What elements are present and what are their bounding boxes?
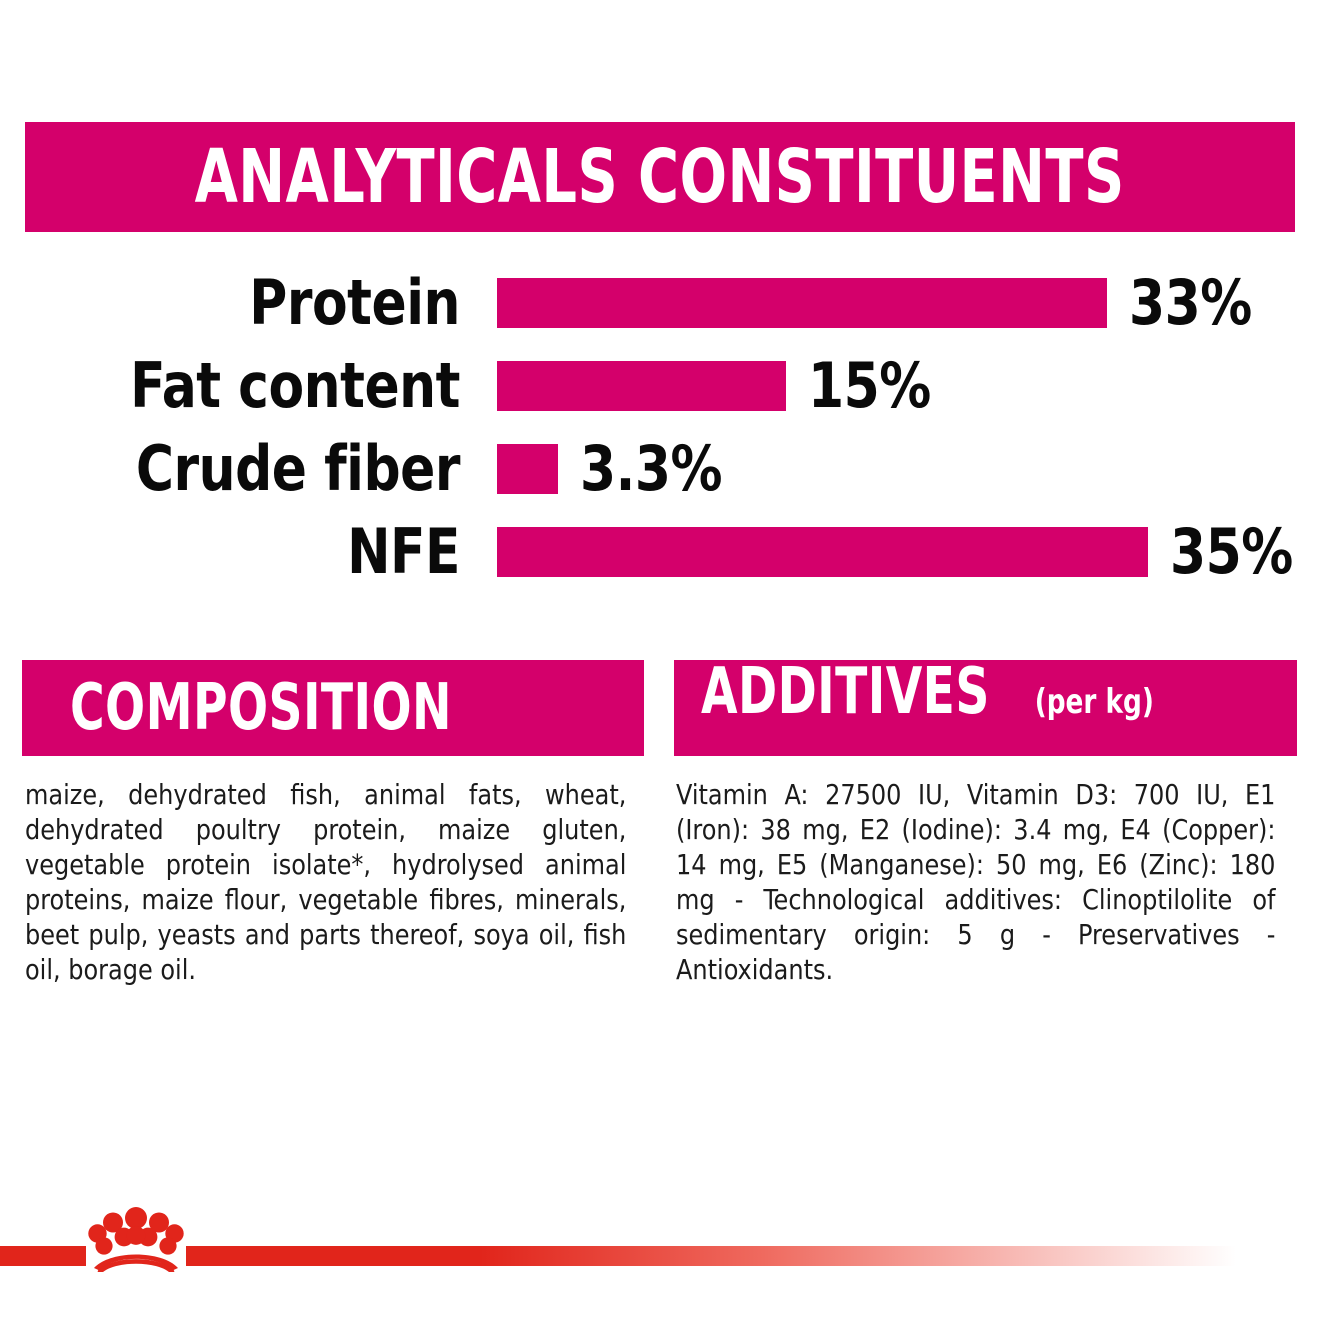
chart-row: Protein 33% (0, 262, 1320, 344)
chart-bar (497, 278, 1107, 328)
chart-bar (497, 444, 558, 494)
chart-bar-group: 15% (497, 355, 940, 417)
chart-bar-group: 3.3% (497, 438, 733, 500)
footer-rule-right (186, 1246, 1236, 1266)
analyticals-constituents-title: ANALYTICALS CONSTITUENTS (195, 140, 1125, 214)
footer-rule-left (0, 1246, 86, 1266)
additives-title: ADDITIVES (701, 660, 990, 724)
chart-row-value: 15% (808, 355, 931, 417)
chart-bar-group: 33% (497, 272, 1261, 334)
chart-row: Crude fiber 3.3% (0, 428, 1320, 510)
composition-title: COMPOSITION (70, 676, 452, 740)
composition-text: maize, dehydrated fish, animal fats, whe… (25, 778, 626, 988)
composition-banner: COMPOSITION (22, 660, 644, 756)
chart-row-value: 33% (1129, 272, 1252, 334)
additives-text: Vitamin A: 27500 IU, Vitamin D3: 700 IU,… (676, 778, 1275, 988)
chart-row: NFE 35% (0, 511, 1320, 593)
chart-row-label: NFE (32, 521, 460, 583)
chart-row-label: Crude fiber (32, 438, 460, 500)
royal-canin-crown-logo (86, 1206, 186, 1272)
constituents-bar-chart: Protein 33% Fat content 15% Crude fiber … (0, 262, 1320, 602)
chart-row-label: Fat content (32, 355, 460, 417)
chart-row-value: 35% (1170, 521, 1293, 583)
analyticals-constituents-banner: ANALYTICALS CONSTITUENTS (25, 122, 1295, 232)
additives-banner-inner: ADDITIVES (per kg) (701, 660, 1297, 724)
chart-bar (497, 361, 786, 411)
additives-banner: ADDITIVES (per kg) (674, 660, 1297, 756)
chart-row: Fat content 15% (0, 345, 1320, 427)
chart-row-label: Protein (32, 272, 460, 334)
additives-subtitle: (per kg) (1035, 685, 1154, 719)
chart-bar (497, 527, 1148, 577)
chart-row-value: 3.3% (580, 438, 722, 500)
chart-bar-group: 35% (497, 521, 1302, 583)
